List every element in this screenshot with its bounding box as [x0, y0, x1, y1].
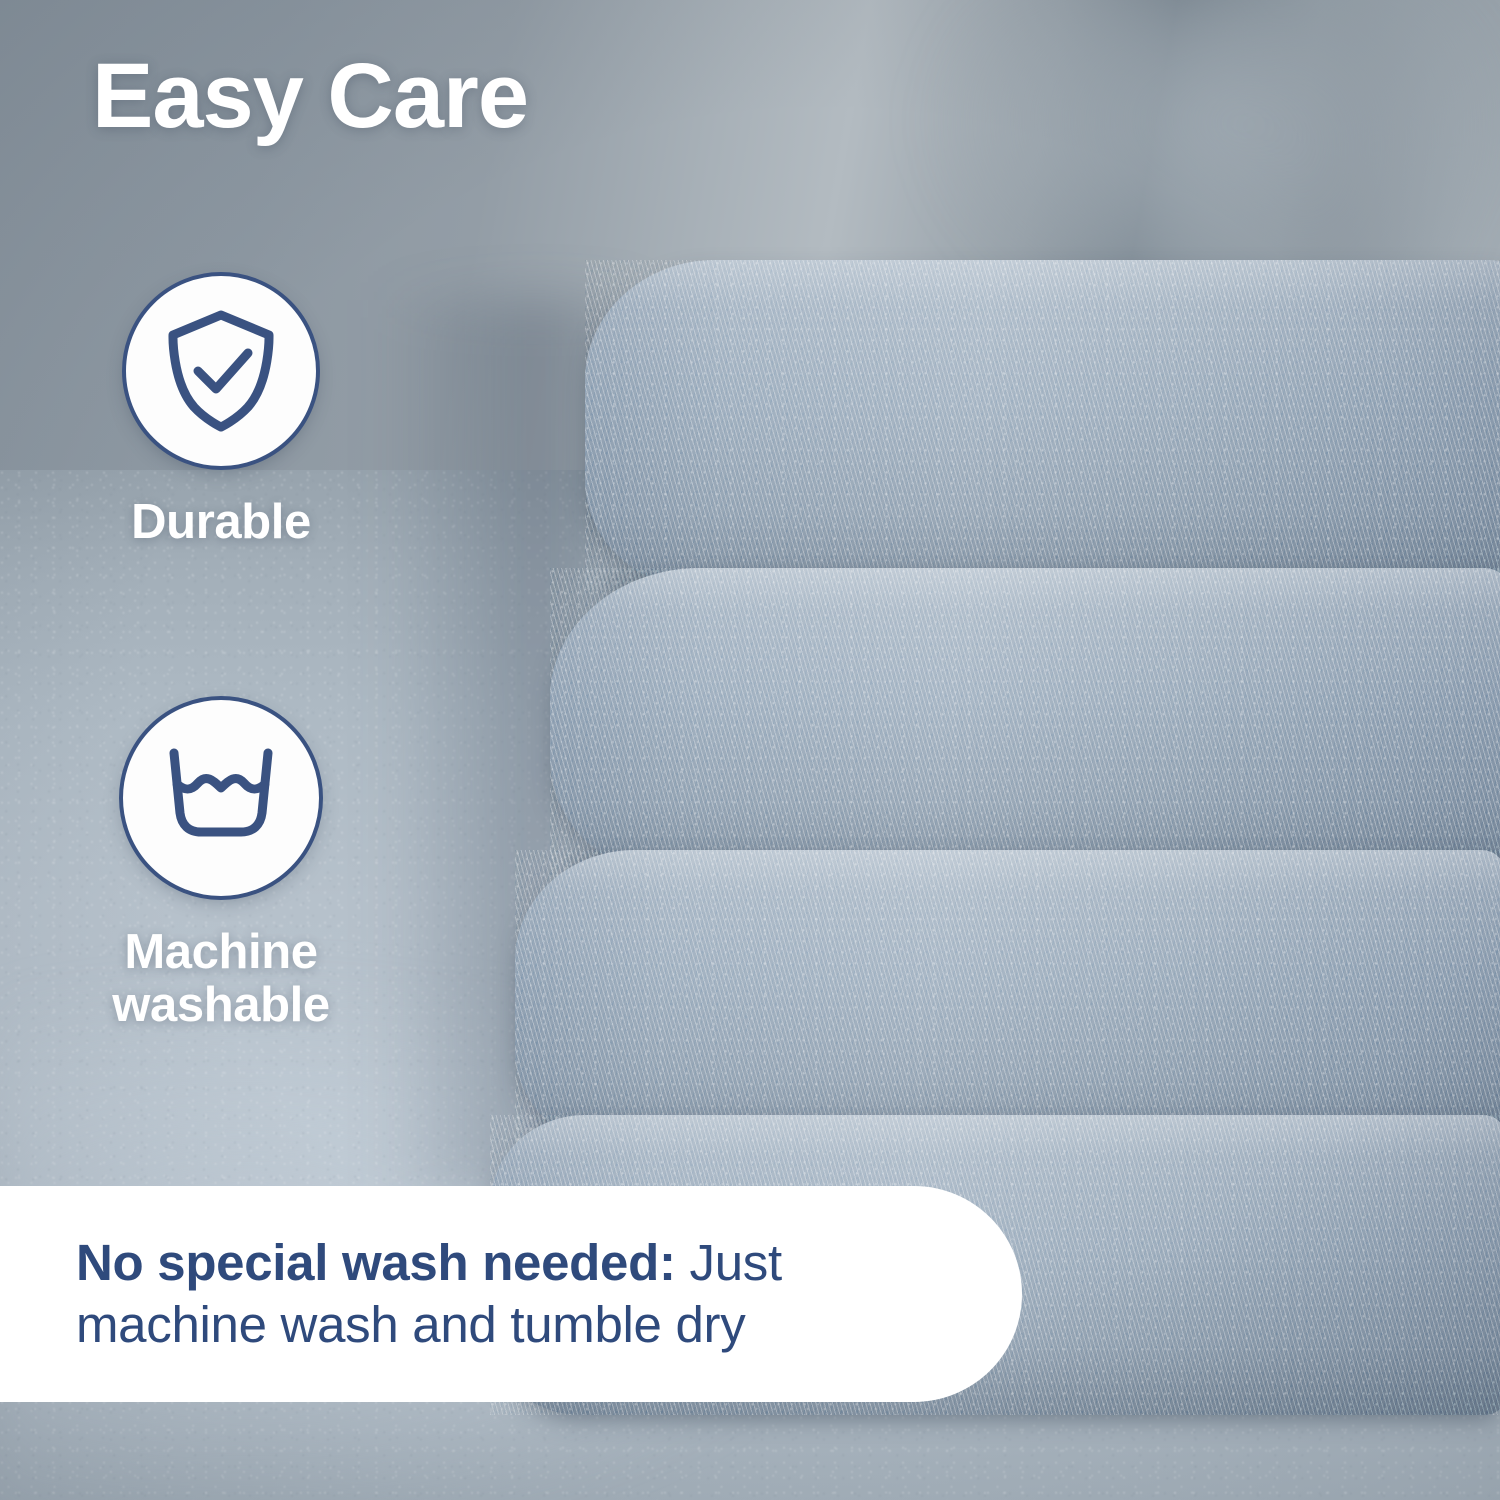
- folded-sheet-layer: [585, 260, 1500, 590]
- caption-text: No special wash needed: Just machine was…: [0, 1232, 1022, 1356]
- folded-sheet-layer: [550, 568, 1500, 878]
- feature-label-line: washable: [45, 979, 397, 1031]
- page-title: Easy Care: [92, 46, 528, 147]
- feature-label-line: Machine: [45, 926, 397, 978]
- shield-check-icon: [162, 308, 280, 434]
- feature-list: Durable Machine washable: [45, 272, 397, 1031]
- durable-badge: [122, 272, 320, 470]
- caption-lead: No special wash needed:: [76, 1234, 676, 1291]
- feature-label-machine-washable: Machine washable: [45, 926, 397, 1031]
- fabric-heather-texture: [550, 568, 1500, 878]
- product-feature-card: Easy Care Durable: [0, 0, 1500, 1500]
- feature-item-durable: Durable: [45, 272, 397, 548]
- caption-banner: No special wash needed: Just machine was…: [0, 1186, 1022, 1402]
- feature-label-durable: Durable: [45, 496, 397, 548]
- fabric-heather-texture: [515, 850, 1500, 1150]
- fabric-heather-texture: [585, 260, 1500, 590]
- folded-sheet-stack: [430, 250, 1500, 1270]
- feature-item-machine-washable: Machine washable: [45, 696, 397, 1031]
- wash-tub-icon: [158, 743, 284, 853]
- machine-washable-badge: [119, 696, 323, 900]
- folded-sheet-layer: [515, 850, 1500, 1150]
